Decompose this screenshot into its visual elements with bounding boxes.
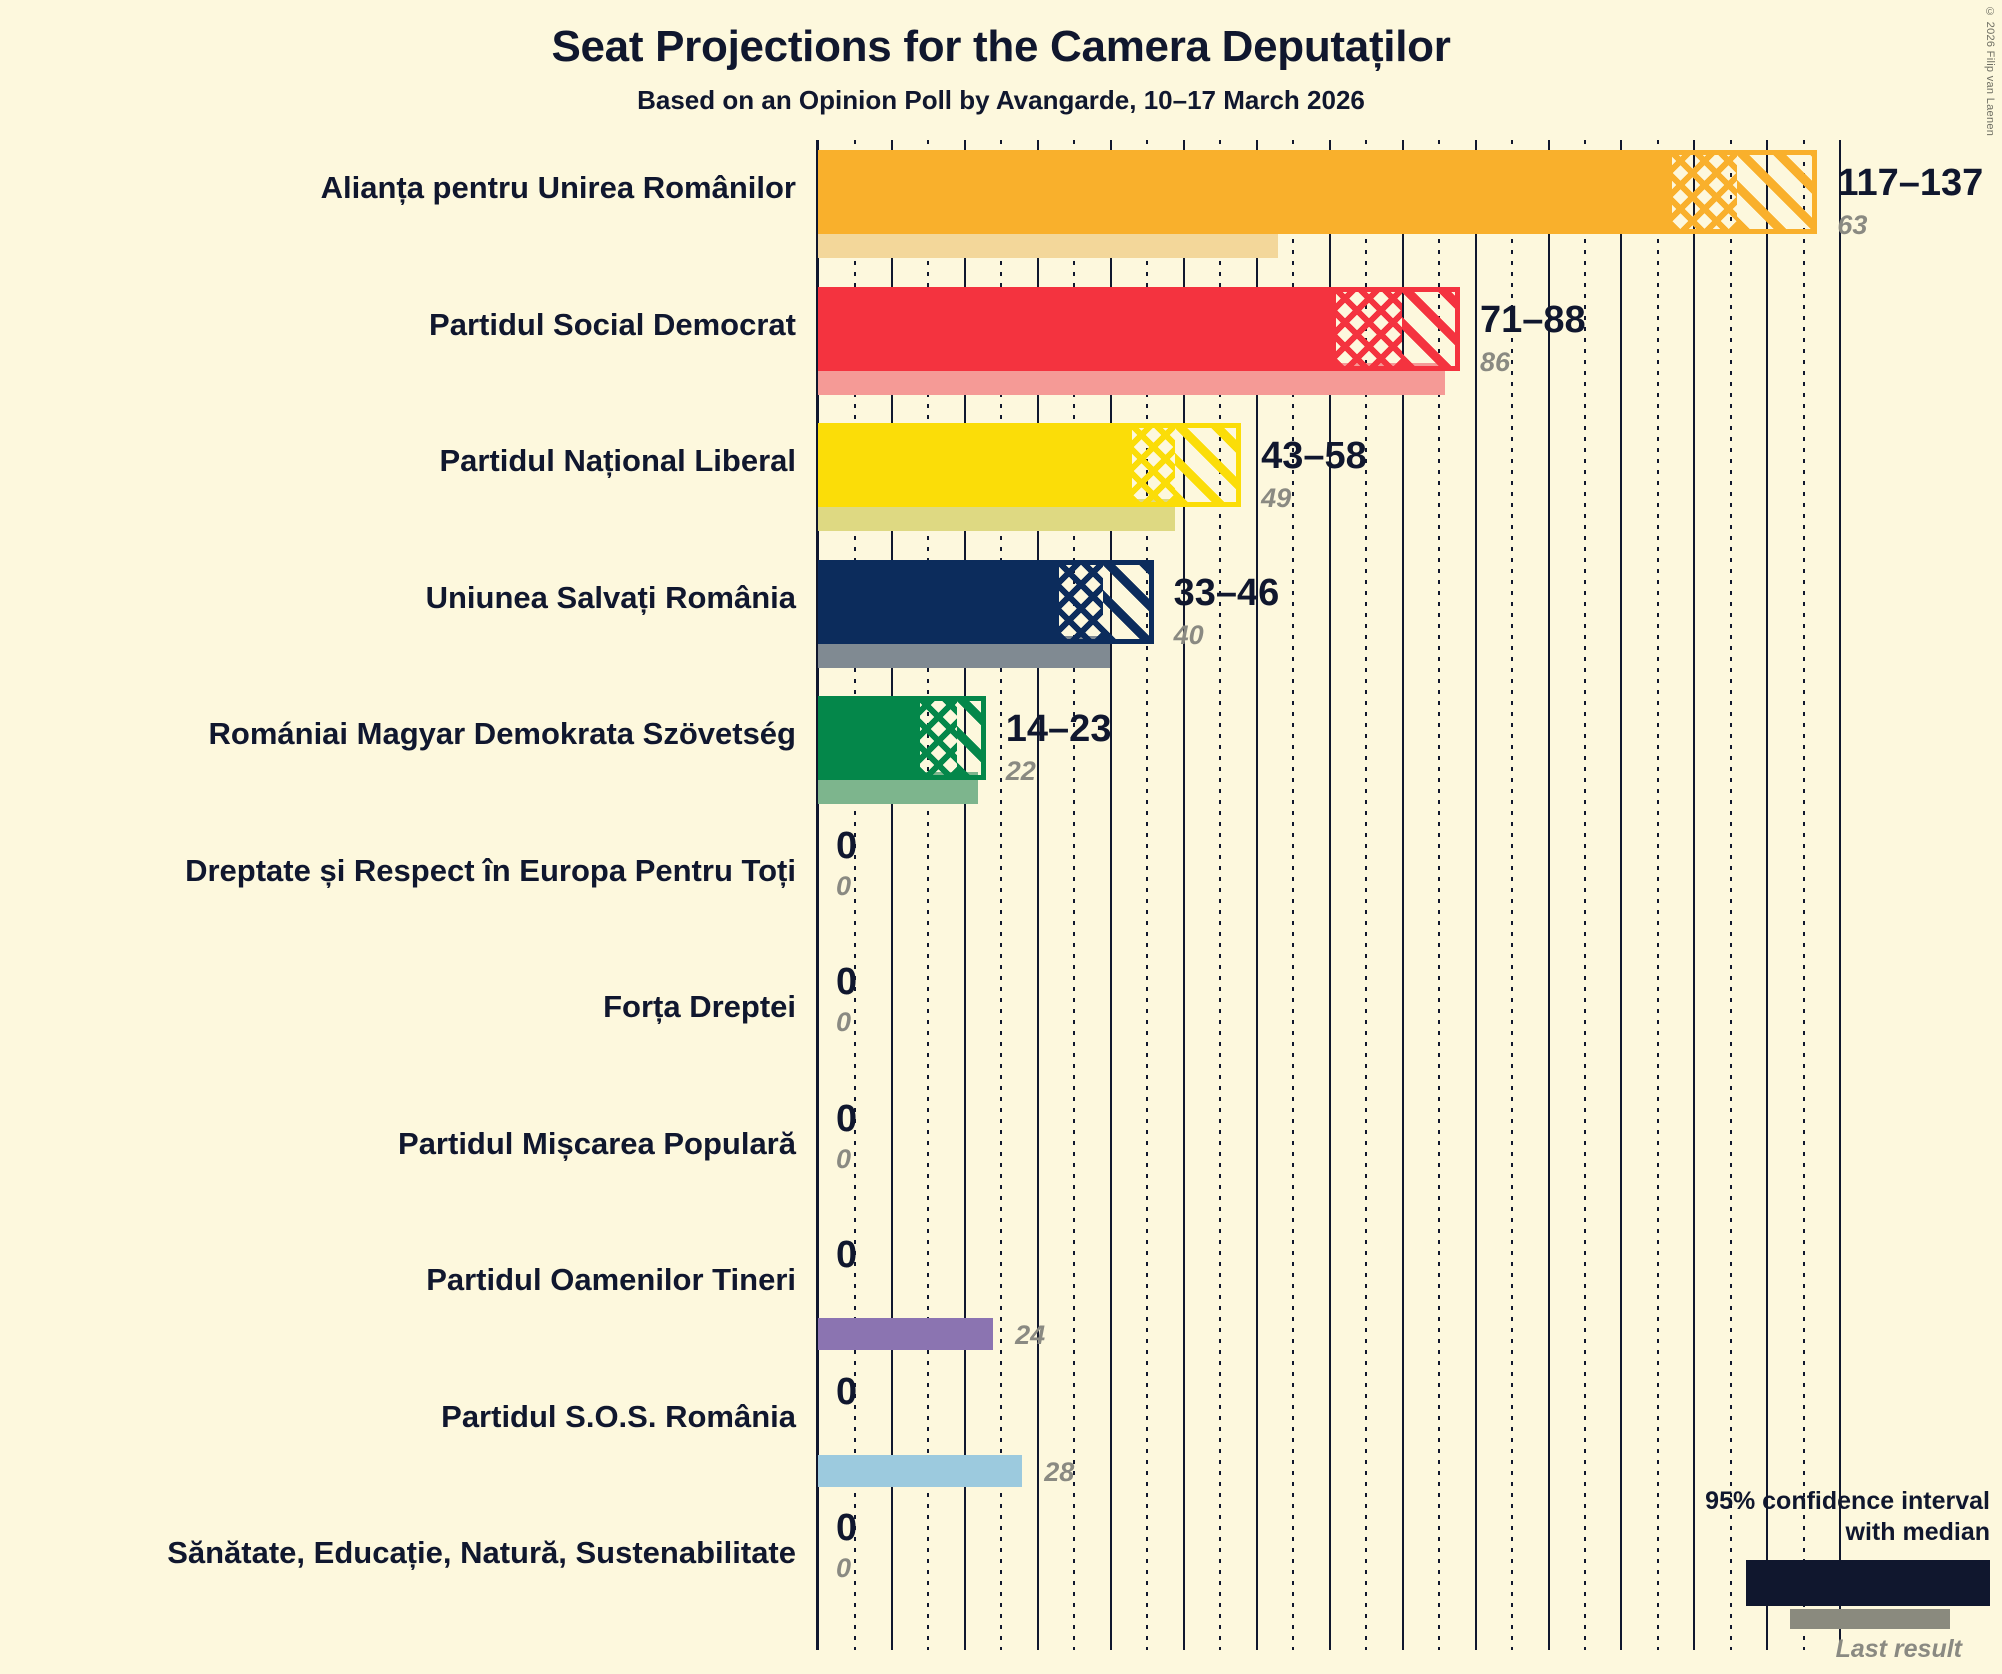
last-result-bar	[818, 1455, 1022, 1487]
party-label: Partidul Național Liberal	[96, 443, 796, 479]
legend: 95% confidence interval with median Last…	[1610, 1486, 1990, 1665]
last-result-bar	[818, 1318, 993, 1350]
party-label: Partidul Mișcarea Populară	[96, 1126, 796, 1162]
seat-range-label: 33–46	[1174, 572, 1280, 615]
ci-crosshatch-segment	[1672, 155, 1738, 229]
seat-range-label: 43–58	[1261, 435, 1367, 478]
seat-range-label: 0	[836, 825, 857, 868]
ci-crosshatch-segment	[920, 701, 956, 775]
legend-line-1: 95% confidence interval	[1610, 1486, 1990, 1517]
last-result-label: 40	[1174, 620, 1204, 651]
last-result-label: 86	[1480, 347, 1510, 378]
party-label: Partidul S.O.S. România	[96, 1399, 796, 1435]
ci-diagonal-segment	[1103, 565, 1149, 639]
ci-solid-segment	[823, 701, 920, 775]
seat-range-label: 0	[836, 1234, 857, 1277]
legend-ci-swatch	[1746, 1560, 1990, 1606]
last-result-label: 0	[836, 871, 851, 902]
seat-range-label: 0	[836, 1098, 857, 1141]
legend-last-result-swatch	[1790, 1609, 1950, 1629]
party-label: Partidul Social Democrat	[96, 307, 796, 343]
seat-projection-chart: Alianța pentru Unirea Românilor117–13763…	[0, 0, 2002, 1674]
legend-diagonal-segment	[1948, 1564, 1986, 1602]
bar-row: Romániai Magyar Demokrata Szövetség14–23…	[0, 696, 2002, 810]
ci-crosshatch-segment	[1336, 292, 1402, 366]
ci-diagonal-segment	[1737, 155, 1812, 229]
last-result-label: 24	[1015, 1320, 1045, 1351]
confidence-interval-bar	[818, 287, 1460, 371]
seat-range-label: 0	[836, 1507, 857, 1550]
party-label: Alianța pentru Unirea Românilor	[96, 170, 796, 206]
legend-last-result-label: Last result	[1610, 1635, 1962, 1664]
ci-crosshatch-segment	[1132, 428, 1176, 502]
confidence-interval-bar	[818, 423, 1241, 507]
legend-crosshatch-segment	[1870, 1564, 1948, 1602]
ci-diagonal-segment	[1175, 428, 1236, 502]
last-result-label: 0	[836, 1553, 851, 1584]
last-result-label: 63	[1837, 210, 1867, 241]
bar-row: Partidul Social Democrat71–8886	[0, 287, 2002, 401]
seat-range-label: 0	[836, 961, 857, 1004]
party-label: Sănătate, Educație, Natură, Sustenabilit…	[96, 1535, 796, 1571]
party-label: Dreptate și Respect în Europa Pentru Toț…	[96, 853, 796, 889]
bar-row: Forța Dreptei00	[0, 969, 2002, 1083]
party-label: Romániai Magyar Demokrata Szövetség	[96, 716, 796, 752]
last-result-label: 0	[836, 1144, 851, 1175]
bar-row: Partidul Național Liberal43–5849	[0, 423, 2002, 537]
party-label: Uniunea Salvați România	[96, 580, 796, 616]
bar-row: Alianța pentru Unirea Românilor117–13763	[0, 150, 2002, 264]
last-result-label: 28	[1044, 1457, 1074, 1488]
seat-range-label: 117–137	[1837, 162, 1983, 205]
seat-range-label: 71–88	[1480, 299, 1586, 342]
party-label: Partidul Oamenilor Tineri	[96, 1262, 796, 1298]
party-label: Forța Dreptei	[96, 989, 796, 1025]
ci-crosshatch-segment	[1059, 565, 1103, 639]
confidence-interval-bar	[818, 696, 986, 780]
last-result-label: 49	[1261, 483, 1291, 514]
last-result-label: 0	[836, 1007, 851, 1038]
last-result-label: 22	[1006, 756, 1036, 787]
confidence-interval-bar	[818, 150, 1817, 234]
bar-row: Partidul Oamenilor Tineri024	[0, 1242, 2002, 1356]
bar-row: Uniunea Salvați România33–4640	[0, 560, 2002, 674]
seat-range-label: 0	[836, 1371, 857, 1414]
bar-row: Dreptate și Respect în Europa Pentru Toț…	[0, 833, 2002, 947]
legend-line-2: with median	[1610, 1517, 1990, 1548]
ci-diagonal-segment	[1402, 292, 1455, 366]
ci-diagonal-segment	[957, 701, 981, 775]
bar-row: Partidul S.O.S. România028	[0, 1379, 2002, 1493]
confidence-interval-bar	[818, 560, 1154, 644]
legend-title: 95% confidence interval with median	[1610, 1486, 1990, 1549]
ci-solid-segment	[823, 428, 1132, 502]
seat-range-label: 14–23	[1006, 708, 1112, 751]
ci-solid-segment	[823, 155, 1672, 229]
ci-solid-segment	[823, 292, 1336, 366]
bar-row: Partidul Mișcarea Populară00	[0, 1106, 2002, 1220]
ci-solid-segment	[823, 565, 1059, 639]
